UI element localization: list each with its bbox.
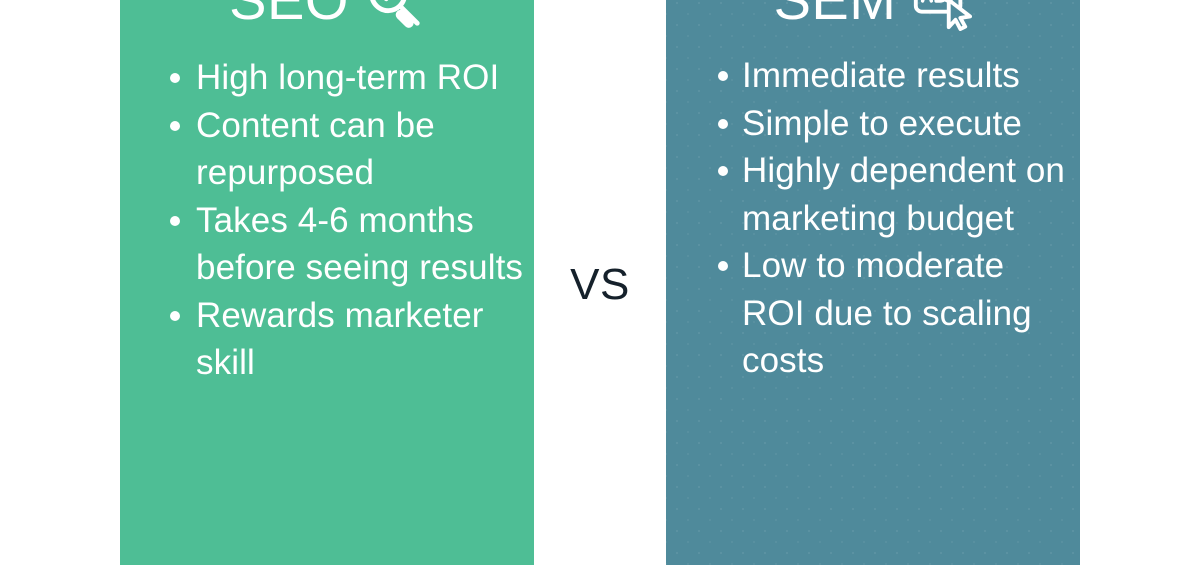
seo-bullet-list: High long-term ROI Content can be repurp…	[120, 54, 534, 387]
sem-bullet-list: Immediate results Simple to execute High…	[666, 52, 1080, 385]
list-item: Highly dependent on marketing budget	[742, 147, 1074, 242]
list-item: Low to moderate ROI due to scaling costs	[742, 242, 1074, 385]
seo-column: SEO High long-term ROI Content ca	[120, 0, 534, 565]
list-item: Immediate results	[742, 52, 1074, 100]
seo-header: SEO	[120, 0, 534, 52]
comparison-graphic: SEO High long-term ROI Content ca	[0, 0, 1200, 565]
sem-header: SEM	[666, 0, 1080, 52]
seo-title: SEO	[229, 0, 349, 28]
list-item: Takes 4-6 months before seeing results	[196, 197, 528, 292]
list-item: Rewards marketer skill	[196, 292, 528, 387]
list-item: Content can be repurposed	[196, 102, 528, 197]
list-item: Simple to execute	[742, 100, 1074, 148]
ads-click-icon	[910, 0, 972, 31]
versus-label: VS	[534, 255, 666, 315]
magnifying-glass-chart-icon	[363, 0, 425, 31]
sem-column: SEM	[666, 0, 1080, 565]
list-item: High long-term ROI	[196, 54, 528, 102]
sem-title: SEM	[774, 0, 897, 28]
